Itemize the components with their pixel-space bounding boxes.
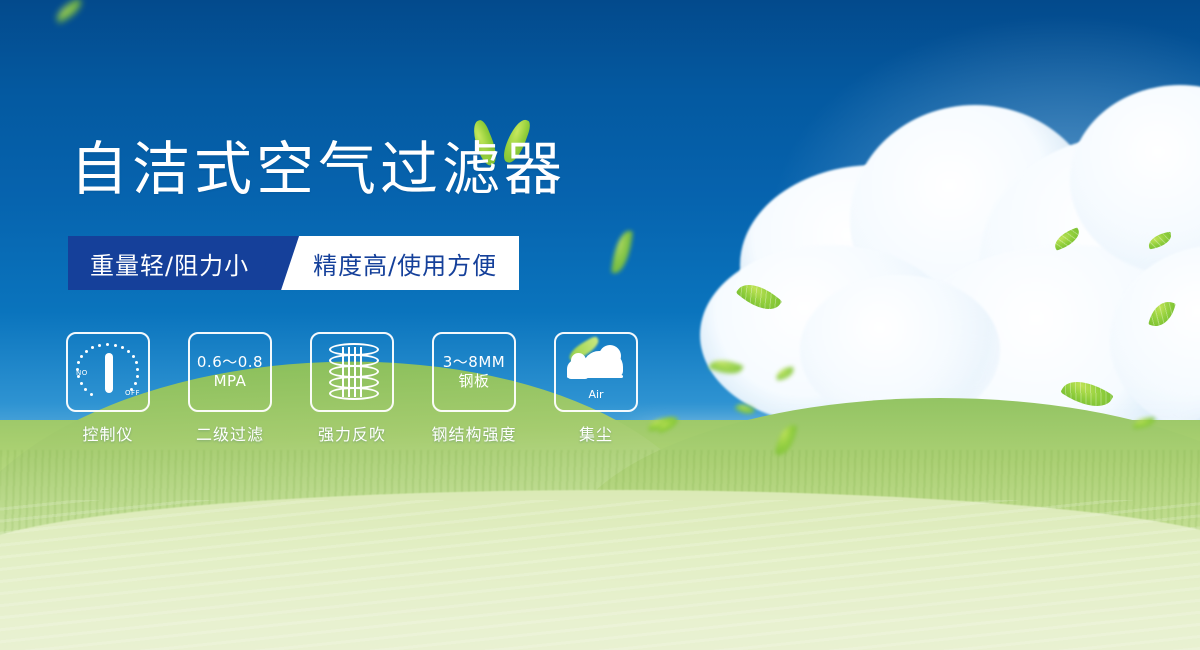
feature-label: 强力反吹 <box>318 421 386 445</box>
gauge-label-off: OFF <box>125 389 140 397</box>
feature-icon-box: 0.6～0.8 MPA <box>188 332 272 412</box>
feature-label: 钢结构强度 <box>432 421 517 445</box>
air-label: Air <box>565 388 627 401</box>
pressure-value-line1: 0.6～0.8 <box>197 353 263 372</box>
steel-value-line2: 钢板 <box>458 372 489 391</box>
feature-label: 控制仪 <box>82 421 133 445</box>
feature-item-dust-collection[interactable]: Air 集尘 <box>556 332 636 445</box>
feature-label: 集尘 <box>579 421 613 445</box>
air-cloud-icon: Air <box>565 345 627 399</box>
gauge-icon: NO OFF <box>76 341 140 403</box>
subtitle-left-panel: 重量轻/阻力小 <box>68 236 283 290</box>
subtitle-bar: 重量轻/阻力小 精度高/使用方便 <box>68 236 519 290</box>
feature-label: 二级过滤 <box>196 421 264 445</box>
grass-sheen <box>0 500 1200 650</box>
subtitle-right-text: 精度高/使用方便 <box>313 246 497 281</box>
feature-item-back-blow[interactable]: 强力反吹 <box>312 332 392 445</box>
feature-item-secondary-filter[interactable]: 0.6～0.8 MPA 二级过滤 <box>190 332 270 445</box>
filter-cartridge-icon <box>329 343 375 401</box>
cumulus-cloud-right <box>680 95 1200 435</box>
steel-value-line1: 3～8MM <box>443 353 505 372</box>
grass-field <box>0 420 1200 650</box>
feature-list: NO OFF 控制仪 0.6～0.8 MPA 二级过滤 <box>68 332 636 445</box>
subtitle-left-text: 重量轻/阻力小 <box>90 246 249 281</box>
product-banner: 自洁式空气过滤器 重量轻/阻力小 精度高/使用方便 <box>0 0 1200 650</box>
feature-icon-box <box>310 332 394 412</box>
feature-icon-box: Air <box>554 332 638 412</box>
page-title: 自洁式空气过滤器 <box>70 140 566 198</box>
feature-item-controller[interactable]: NO OFF 控制仪 <box>68 332 148 445</box>
gauge-label-no: NO <box>76 369 88 377</box>
feature-icon-box: 3～8MM 钢板 <box>432 332 516 412</box>
feature-item-steel-strength[interactable]: 3～8MM 钢板 钢结构强度 <box>434 332 514 445</box>
feature-icon-box: NO OFF <box>66 332 150 412</box>
pressure-value-line2: MPA <box>214 372 247 391</box>
subtitle-right-panel: 精度高/使用方便 <box>281 236 519 290</box>
